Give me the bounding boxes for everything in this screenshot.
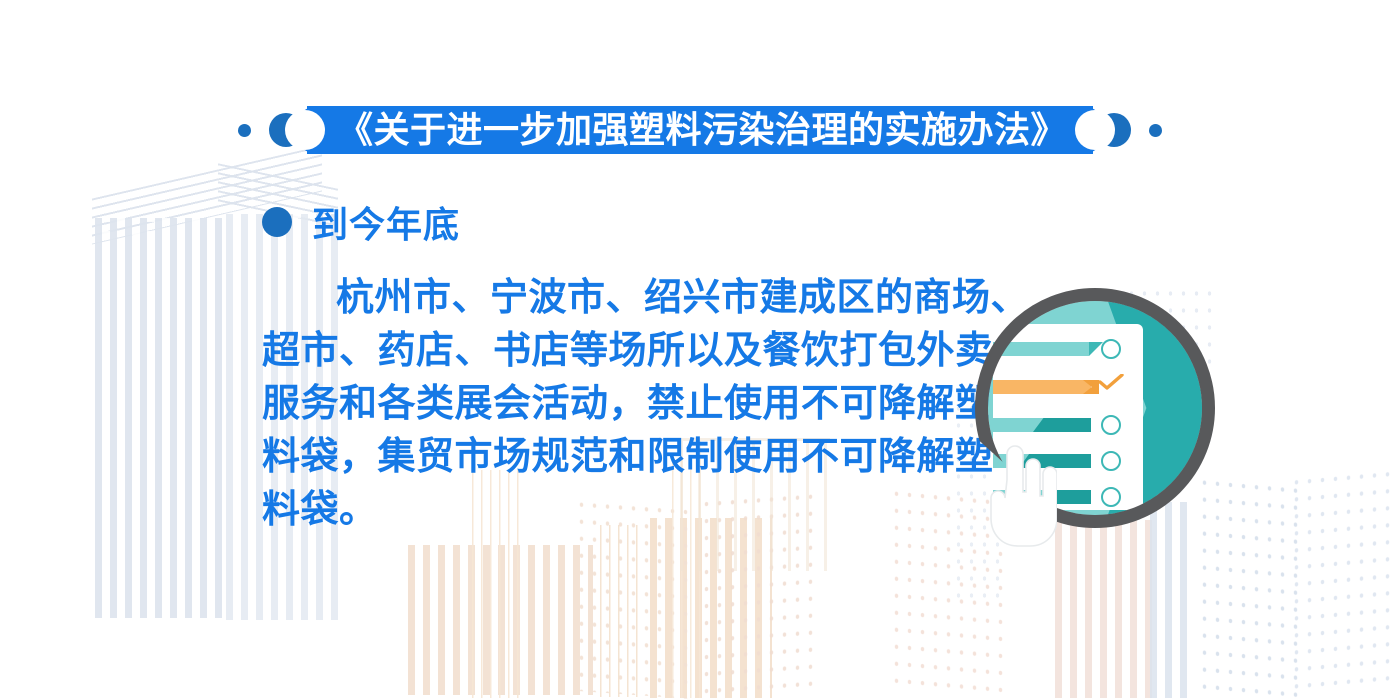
- skyline-center-left-lines: [600, 525, 644, 697]
- title-banner-row: 《关于进一步加强塑料污染治理的实施办法》: [0, 100, 1400, 160]
- checklist-illustration: [975, 288, 1215, 528]
- skyline-right-blue-c: [1150, 502, 1192, 698]
- skyline-right-peach-b: [1055, 520, 1160, 698]
- body-paragraph: 杭州市、宁波市、绍兴市建成区的商场、 超市、药店、书店等场所以及餐饮打包外卖 服…: [262, 272, 978, 537]
- body-line: 服务和各类展会活动，禁止使用不可降解塑: [262, 378, 978, 431]
- body-line: 杭州市、宁波市、绍兴市建成区的商场、: [262, 272, 978, 325]
- skyline-left-face-a: [95, 218, 223, 618]
- banner-right-mini-dot: [1149, 124, 1162, 137]
- skyline-right-blue-b: [1290, 466, 1390, 700]
- body-line: 料袋，集贸市场规范和限制使用不可降解塑: [262, 431, 978, 484]
- banner-left-notch: [285, 110, 325, 150]
- body-line: 料袋。: [262, 484, 978, 537]
- subheading-bullet-icon: [262, 207, 292, 237]
- title-banner: 《关于进一步加强塑料污染治理的实施办法》: [307, 106, 1093, 154]
- subheading: 到今年底: [262, 196, 460, 248]
- banner-right-notch: [1075, 110, 1115, 150]
- banner-left-mini-dot: [238, 124, 251, 137]
- body-line: 超市、药店、书店等场所以及餐饮打包外卖: [262, 325, 978, 378]
- page-title: 《关于进一步加强塑料污染治理的实施办法》: [337, 106, 1067, 154]
- poster-canvas: 《关于进一步加强塑料污染治理的实施办法》 到今年底 杭州市、宁波市、绍兴市建成区…: [0, 0, 1400, 700]
- skyline-center-left-block: [408, 545, 593, 695]
- skyline-center-tower: [650, 518, 772, 698]
- hand-pointer-icon: [981, 440, 1057, 548]
- subheading-label: 到今年底: [312, 196, 460, 248]
